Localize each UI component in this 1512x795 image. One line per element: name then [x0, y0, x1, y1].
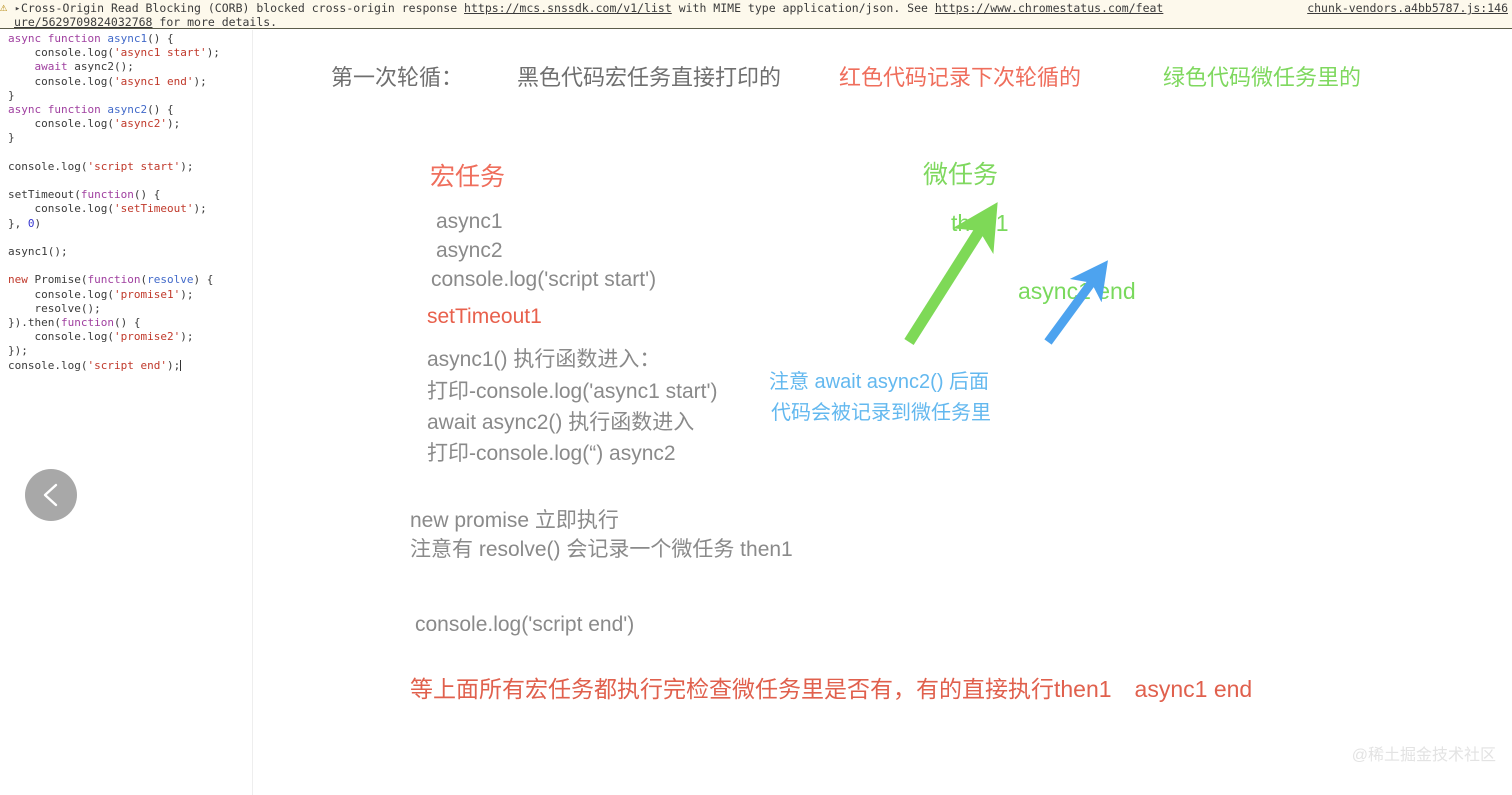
- code-token: console.log(: [8, 117, 114, 130]
- code-token: 'promise2': [114, 330, 180, 343]
- code-line: }).then(function() {: [8, 316, 220, 330]
- code-token: },: [8, 217, 28, 230]
- code-line: setTimeout(function() {: [8, 188, 220, 202]
- code-line: [8, 146, 220, 160]
- code-token: async function: [8, 103, 107, 116]
- promise-note-line-0: new promise 立即执行: [410, 506, 619, 536]
- code-token: resolve: [147, 273, 193, 286]
- code-line: }, 0): [8, 217, 220, 231]
- code-token: );: [207, 46, 220, 59]
- code-token: console.log(: [8, 160, 87, 173]
- code-token: [8, 60, 35, 73]
- green-arrow-to-then1: [909, 230, 980, 342]
- code-token: async1();: [8, 245, 68, 258]
- blue-note-line-0: 注意 await async2() 后面: [769, 367, 989, 398]
- console-warning-text: Cross-Origin Read Blocking (CORB) blocke…: [21, 1, 464, 15]
- code-line: console.log('async1 end');: [8, 75, 220, 89]
- code-token: async2();: [68, 60, 134, 73]
- code-line: async function async1() {: [8, 32, 220, 46]
- code-token: ) {: [193, 273, 213, 286]
- code-token: 'script start': [87, 160, 180, 173]
- code-line: }: [8, 89, 220, 103]
- code-token: 'async1 end': [114, 75, 193, 88]
- code-line: }: [8, 131, 220, 145]
- console-warning-text-end: for more details.: [152, 15, 277, 29]
- code-token: setTimeout(: [8, 188, 81, 201]
- back-button[interactable]: [25, 469, 77, 521]
- code-token: async1: [107, 32, 147, 45]
- code-token: }).then(: [8, 316, 61, 329]
- code-token: resolve();: [8, 302, 101, 315]
- code-token: );: [180, 288, 193, 301]
- code-line: resolve();: [8, 302, 220, 316]
- code-token: () {: [147, 103, 174, 116]
- code-token: }: [8, 131, 15, 144]
- blue-arrow-to-async1-end: [1048, 282, 1092, 342]
- code-token: Promise(: [28, 273, 88, 286]
- console-warning-text-mid: with MIME type application/json. See: [672, 1, 935, 15]
- code-token: () {: [134, 188, 161, 201]
- console-warning-link-2[interactable]: https://www.chromestatus.com/feat: [935, 1, 1163, 15]
- code-token: console.log(: [8, 330, 114, 343]
- code-line: console.log('promise1');: [8, 288, 220, 302]
- console-warning-banner: ⚠ ▸Cross-Origin Read Blocking (CORB) blo…: [0, 0, 1512, 29]
- code-line: console.log('promise2');: [8, 330, 220, 344]
- watermark: @稀土掘金技术社区: [1352, 741, 1496, 765]
- code-token: async function: [8, 32, 107, 45]
- console-warning-link-2-cont[interactable]: ure/5629709824032768: [14, 15, 152, 29]
- code-line: console.log('script start');: [8, 160, 220, 174]
- code-token: );: [167, 117, 180, 130]
- code-token: () {: [147, 32, 174, 45]
- code-token: console.log(: [8, 202, 114, 215]
- code-token: async2: [107, 103, 147, 116]
- code-token: );: [193, 202, 206, 215]
- code-token: 'async2': [114, 117, 167, 130]
- code-token: 0: [28, 217, 35, 230]
- code-token: }: [8, 89, 15, 102]
- code-token: });: [8, 344, 28, 357]
- code-token: function: [81, 188, 134, 201]
- promise-note-line-1: 注意有 resolve() 会记录一个微任务 then1: [410, 535, 793, 565]
- code-token: function: [61, 316, 114, 329]
- code-token: 'async1 start': [114, 46, 207, 59]
- code-token: new: [8, 273, 28, 286]
- code-token: () {: [114, 316, 141, 329]
- warning-triangle-icon: ⚠: [0, 1, 12, 13]
- chevron-left-icon: [39, 482, 63, 508]
- code-line: console.log('async1 start');: [8, 46, 220, 60]
- bottom-conclusion: 等上面所有宏任务都执行完检查微任务里是否有，有的直接执行then1 async1…: [410, 670, 1252, 704]
- diagram-canvas: 第一次轮循： 黑色代码宏任务直接打印的 红色代码记录下次轮循的 绿色代码微任务里…: [253, 30, 1512, 795]
- code-token: );: [167, 359, 180, 372]
- code-token: function: [87, 273, 140, 286]
- code-line: [8, 231, 220, 245]
- code-token: console.log(: [8, 46, 114, 59]
- code-token: console.log(: [8, 359, 87, 372]
- code-line: [8, 259, 220, 273]
- text-caret: [180, 360, 181, 371]
- code-pane: async function async1() { console.log('a…: [0, 30, 253, 795]
- console-warning-link-1[interactable]: https://mcs.snssdk.com/v1/list: [464, 1, 672, 15]
- code-line: new Promise(function(resolve) {: [8, 273, 220, 287]
- code-line: async function async2() {: [8, 103, 220, 117]
- code-token: await: [35, 60, 68, 73]
- disclosure-triangle-icon[interactable]: ▸: [15, 2, 21, 13]
- code-token: ): [35, 217, 42, 230]
- code-token: 'promise1': [114, 288, 180, 301]
- code-token: console.log(: [8, 75, 114, 88]
- code-token: console.log(: [8, 288, 114, 301]
- script-end-line: console.log('script end'): [415, 610, 634, 640]
- code-token: );: [193, 75, 206, 88]
- blue-note-line-1: 代码会被记录到微任务里: [771, 398, 991, 429]
- code-line: });: [8, 344, 220, 358]
- code-snippet: async function async1() { console.log('a…: [8, 32, 220, 373]
- code-token: 'script end': [87, 359, 166, 372]
- code-line: console.log('setTimeout');: [8, 202, 220, 216]
- code-line: [8, 174, 220, 188]
- code-token: );: [180, 330, 193, 343]
- console-warning-source-link[interactable]: chunk-vendors.a4bb5787.js:146: [1307, 1, 1508, 15]
- code-token: 'setTimeout': [114, 202, 193, 215]
- code-line: console.log('script end');: [8, 359, 220, 373]
- code-line: await async2();: [8, 60, 220, 74]
- code-line: console.log('async2');: [8, 117, 220, 131]
- code-token: );: [180, 160, 193, 173]
- code-line: async1();: [8, 245, 220, 259]
